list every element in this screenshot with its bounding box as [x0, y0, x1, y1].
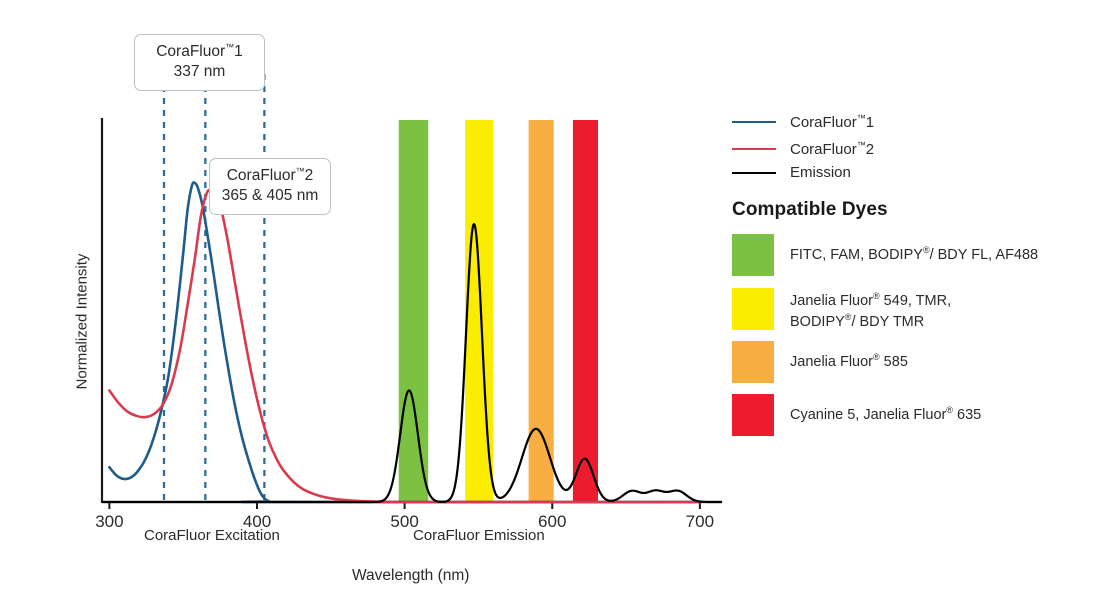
orange-band [529, 120, 554, 502]
x-axis-title: Wavelength (nm) [352, 567, 469, 585]
y-axis-title: Normalized Intensity [74, 232, 91, 412]
legend-label-emission: Emission [790, 164, 851, 181]
red-band [573, 120, 598, 502]
legend-item-corafluor1: CoraFluor™1 [732, 113, 874, 131]
legend-label-corafluor2: CoraFluor™2 [790, 140, 874, 158]
dye-label-orange: Janelia Fluor® 585 [790, 341, 908, 372]
dye-swatch-yellow [732, 288, 774, 330]
callout-cf1-line2: 337 nm [145, 62, 254, 82]
compatible-dyes-title: Compatible Dyes [732, 199, 888, 221]
legend-panel: CoraFluor™1 CoraFluor™2 Emission Compati… [730, 0, 1110, 612]
legend-swatch-line-corafluor1 [732, 121, 776, 123]
dye-item-green: FITC, FAM, BODIPY®/ BDY FL, AF488 [732, 234, 1038, 276]
spectra-chart: 300400500600700 [0, 0, 730, 612]
green-band [399, 120, 429, 502]
dye-swatch-red [732, 394, 774, 436]
callout-cf1-line1: CoraFluor™1 [145, 42, 254, 62]
callout-cf2-line1: CoraFluor™2 [220, 166, 320, 186]
dye-item-orange: Janelia Fluor® 585 [732, 341, 908, 383]
dye-swatch-green [732, 234, 774, 276]
callout-cf2-line2: 365 & 405 nm [220, 186, 320, 206]
dye-swatch-orange [732, 341, 774, 383]
legend-swatch-line-corafluor2 [732, 148, 776, 150]
dye-label-yellow: Janelia Fluor® 549, TMR, BODIPY®/ BDY TM… [790, 288, 951, 333]
legend-swatch-line-emission [732, 172, 776, 174]
axis-sublabel-excitation: CoraFluor Excitation [144, 527, 280, 544]
legend-label-corafluor1: CoraFluor™1 [790, 113, 874, 131]
legend-item-corafluor2: CoraFluor™2 [732, 140, 874, 158]
x-tick-label-300: 300 [95, 512, 123, 531]
dye-item-red: Cyanine 5, Janelia Fluor® 635 [732, 394, 981, 436]
axis-sublabel-emission: CoraFluor Emission [413, 527, 545, 544]
callout-corafluor2: CoraFluor™2 365 & 405 nm [209, 158, 331, 215]
dye-item-yellow: Janelia Fluor® 549, TMR, BODIPY®/ BDY TM… [732, 288, 951, 333]
dye-label-red: Cyanine 5, Janelia Fluor® 635 [790, 394, 981, 425]
dye-label-green: FITC, FAM, BODIPY®/ BDY FL, AF488 [790, 234, 1038, 265]
chart-plot-area: 300400500600700 CoraFluor™1 337 nm CoraF… [0, 0, 730, 612]
legend-item-emission: Emission [732, 164, 851, 181]
x-tick-label-700: 700 [686, 512, 714, 531]
emission-band-bars [399, 120, 598, 502]
callout-corafluor1: CoraFluor™1 337 nm [134, 34, 265, 91]
